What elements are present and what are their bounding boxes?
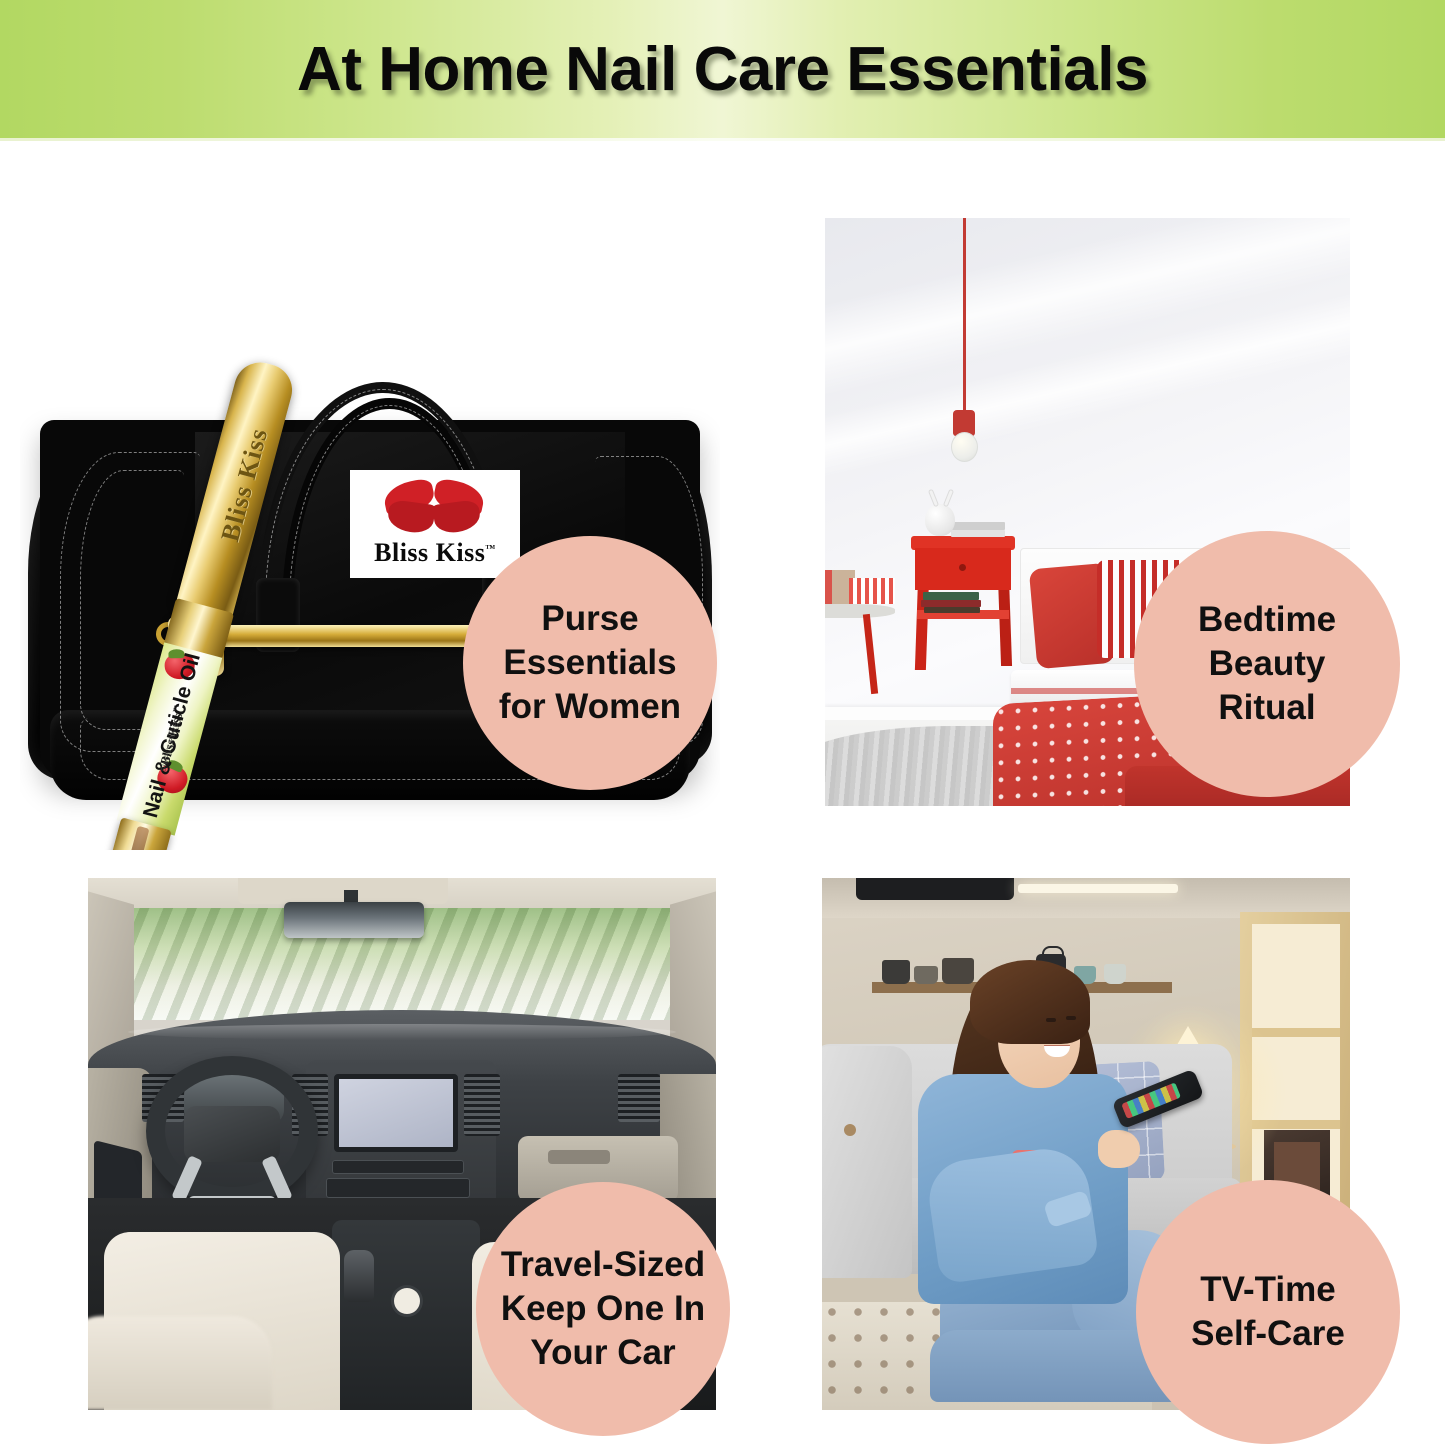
ceiling-light-strip xyxy=(1018,884,1178,893)
badge-line: Keep One In xyxy=(489,1287,717,1331)
badge-line: Ritual xyxy=(1186,686,1348,730)
sun-visor xyxy=(238,878,448,904)
air-vent xyxy=(464,1074,500,1136)
brand-name: Bliss Kiss™ xyxy=(356,538,514,568)
woman-eye xyxy=(1066,1016,1076,1020)
header-banner: At Home Nail Care Essentials xyxy=(0,0,1445,138)
bliss-kiss-logo: Bliss Kiss™ xyxy=(350,470,520,578)
climate-control-panel xyxy=(326,1178,470,1198)
range-hood xyxy=(856,878,1014,900)
badge-line: Purse xyxy=(487,597,693,641)
seat-foreground-blur xyxy=(88,1316,272,1410)
center-console-tunnel xyxy=(332,1220,480,1410)
book xyxy=(921,600,981,607)
badge-line: for Women xyxy=(487,685,693,729)
side-chair-seat xyxy=(825,604,895,618)
header-divider xyxy=(0,138,1445,141)
infotainment-screen xyxy=(334,1074,458,1152)
white-vase xyxy=(925,504,955,536)
cookware-pot xyxy=(882,960,910,984)
book xyxy=(951,530,1005,537)
cup-holder xyxy=(394,1288,420,1314)
woman-hand xyxy=(1098,1130,1140,1168)
antler-decor-icon xyxy=(929,490,953,506)
gear-shifter xyxy=(344,1250,374,1302)
gift-box xyxy=(849,578,895,604)
rearview-mirror xyxy=(284,902,424,938)
red-lips-icon xyxy=(382,478,488,534)
mug xyxy=(1104,964,1126,984)
dashboard-highlight xyxy=(128,1024,676,1040)
badge-line: Self-Care xyxy=(1179,1312,1357,1356)
badge-line: TV-Time xyxy=(1179,1268,1357,1312)
pendant-light-bulb-icon xyxy=(951,432,978,462)
glovebox-handle xyxy=(548,1150,610,1164)
cookware-pot xyxy=(942,958,974,984)
sofa-button-detail xyxy=(844,1124,856,1136)
badge-line: Your Car xyxy=(489,1331,717,1375)
air-vent xyxy=(618,1074,660,1122)
steering-wheel-hub xyxy=(184,1106,280,1162)
woman-hair-top xyxy=(970,960,1090,1044)
book xyxy=(923,592,979,600)
badge-travel-sized: Travel-Sized Keep One In Your Car xyxy=(476,1182,730,1436)
badge-line: Essentials xyxy=(487,641,693,685)
page-title: At Home Nail Care Essentials xyxy=(297,34,1148,105)
console-button-row xyxy=(332,1160,464,1174)
nightstand-knob xyxy=(959,564,966,571)
book xyxy=(924,607,980,613)
badge-purse-essentials: Purse Essentials for Women xyxy=(463,536,717,790)
woman-eye xyxy=(1046,1018,1056,1022)
badge-line: Beauty xyxy=(1186,642,1348,686)
badge-tv-time: TV-Time Self-Care xyxy=(1136,1180,1400,1444)
badge-bedtime-ritual: Bedtime Beauty Ritual xyxy=(1134,531,1400,797)
badge-line: Travel-Sized xyxy=(489,1243,717,1287)
badge-line: Bedtime xyxy=(1186,598,1348,642)
sofa-arm xyxy=(822,1046,912,1278)
pendant-lamp-cord xyxy=(963,218,966,413)
book xyxy=(949,522,1005,530)
cookware-pot xyxy=(914,966,938,984)
